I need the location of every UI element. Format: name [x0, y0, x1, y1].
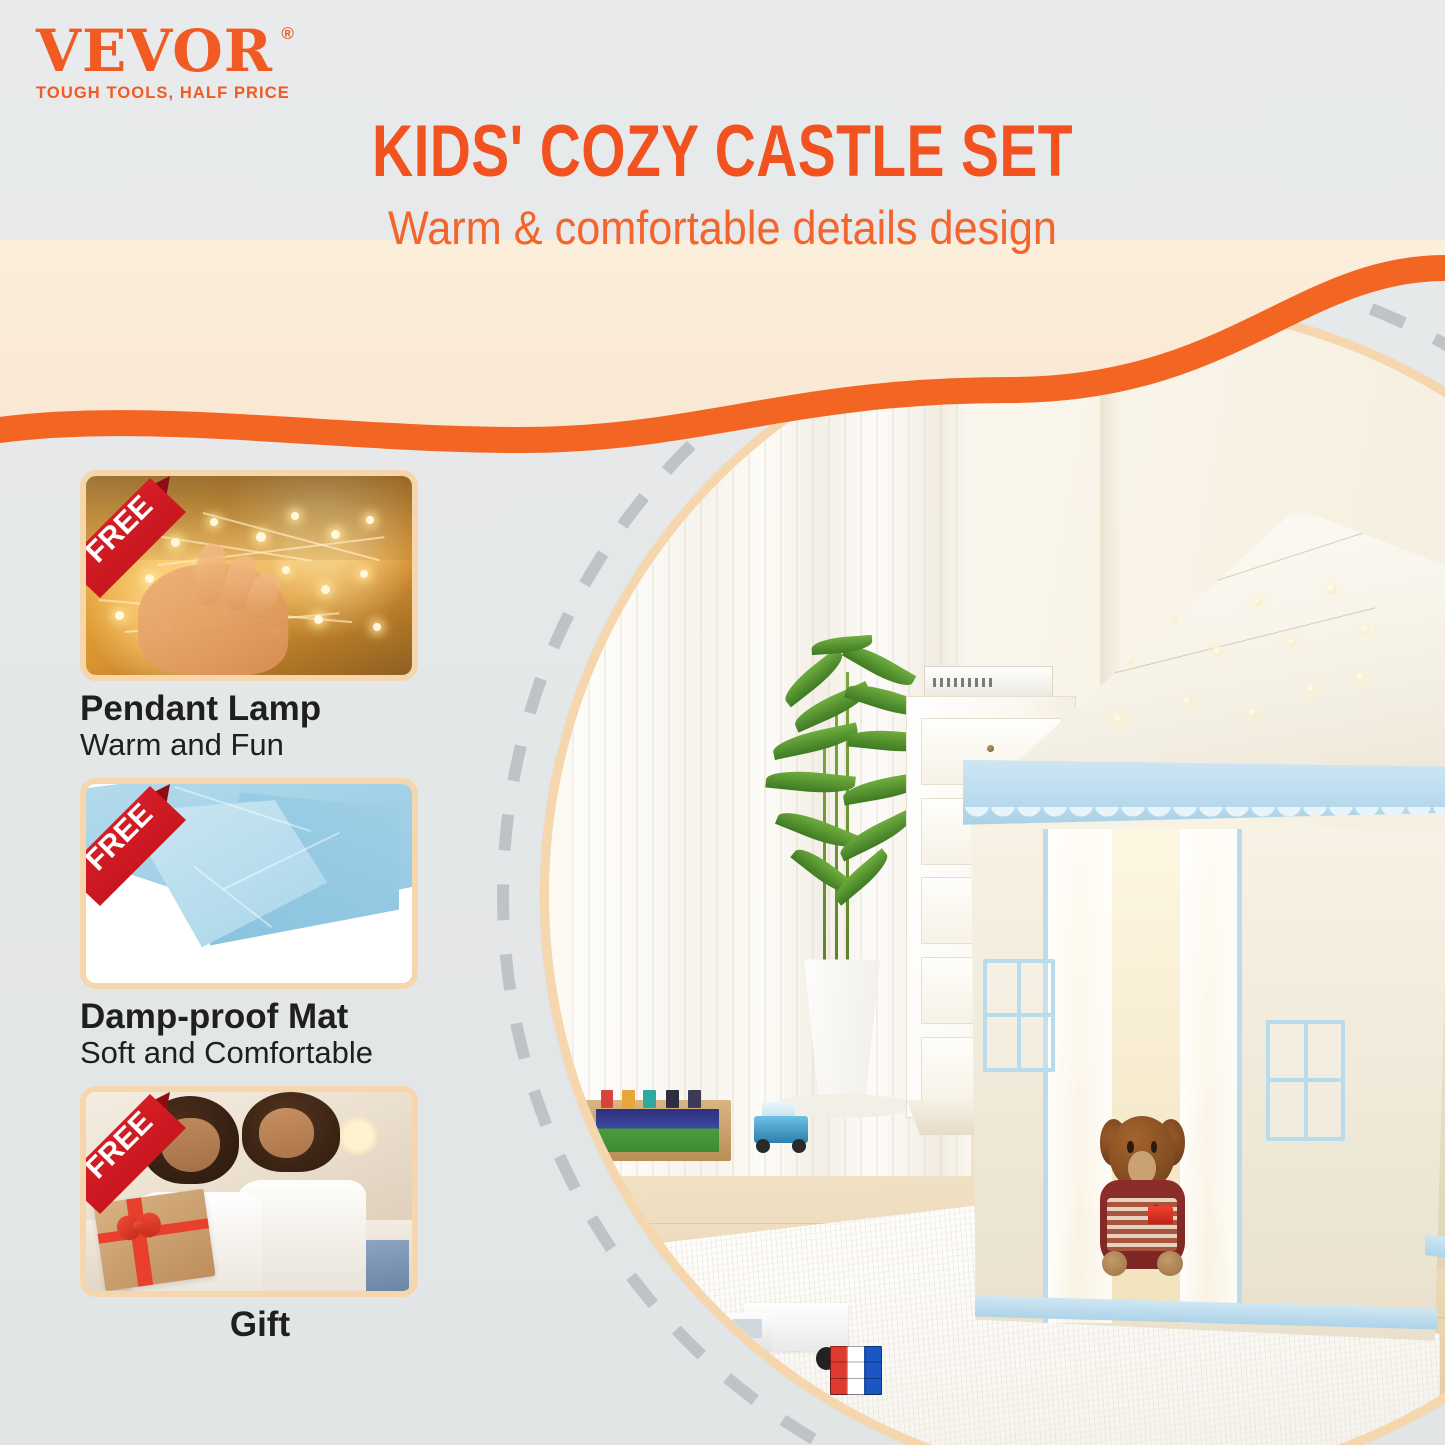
ribbon-bow: [115, 1211, 162, 1241]
fairy-lights-photo: [86, 476, 412, 675]
feature-card-list: FREE Pendant Lamp Warm and Fun: [80, 470, 440, 1359]
tent-window: [983, 959, 1055, 1072]
teddy-bear: [1089, 1116, 1195, 1294]
tent-roof-front: [971, 508, 1445, 803]
tent-window: [1266, 1020, 1346, 1141]
feature-image-gift: FREE: [80, 1086, 418, 1297]
feature-subtitle: Soft and Comfortable: [80, 1036, 440, 1070]
feature-title: Damp-proof Mat: [80, 998, 440, 1035]
red-toy-car: [1148, 1206, 1174, 1223]
blue-toy-truck: [754, 1101, 808, 1153]
gift-box: [93, 1189, 215, 1291]
feature-image-pendant-lamp: FREE: [80, 470, 418, 681]
rubiks-cube: [830, 1346, 882, 1395]
poster-canvas: VEVOR® TOUGH TOOLS, HALF PRICE KIDS' COZ…: [0, 0, 1445, 1445]
vevor-logo: VEVOR® TOUGH TOOLS, HALF PRICE: [36, 24, 290, 103]
page-title: KIDS' COZY CASTLE SET: [159, 110, 1286, 193]
registered-trademark-icon: ®: [281, 26, 295, 42]
tent-doorway: [1043, 829, 1242, 1323]
family-gift-photo: [86, 1092, 412, 1291]
playhouse-tent: [971, 508, 1445, 1375]
folded-mat-photo: [86, 784, 412, 983]
feature-title: Pendant Lamp: [80, 690, 440, 727]
feature-card-pendant-lamp[interactable]: FREE Pendant Lamp Warm and Fun: [80, 470, 440, 762]
feature-image-damp-proof-mat: FREE: [80, 778, 418, 989]
feature-card-damp-proof-mat[interactable]: FREE Damp-proof Mat Soft and Comfortable: [80, 778, 440, 1070]
page-subtitle: Warm & comfortable details design: [58, 200, 1387, 255]
hero-circle-photo: [540, 300, 1445, 1445]
vevor-tagline: TOUGH TOOLS, HALF PRICE: [36, 84, 290, 103]
shelf-artwork: [596, 1109, 719, 1151]
header-wave-divider: [0, 240, 1445, 470]
feature-title: Gift: [80, 1306, 440, 1343]
hand: [138, 564, 288, 675]
bedroom-scene: [549, 309, 1445, 1445]
vevor-wordmark: VEVOR®: [36, 24, 273, 79]
feature-subtitle: Warm and Fun: [80, 728, 440, 762]
feature-card-gift[interactable]: FREE Gift: [80, 1086, 440, 1343]
